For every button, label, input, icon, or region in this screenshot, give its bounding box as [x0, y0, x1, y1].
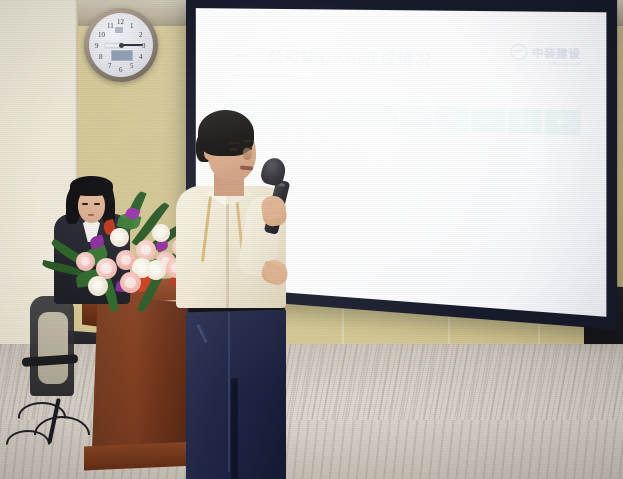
slide-title: 一、公司核心KPI完成情况 [235, 45, 432, 71]
kpi-col-label: 备注 [557, 119, 569, 126]
kpi-cell: -- [399, 147, 432, 160]
pink-rose [120, 272, 141, 293]
kpi-cell-value: -- [561, 172, 565, 178]
kpi-cell: -- [364, 145, 397, 158]
kpi-cell-value: -- [523, 170, 526, 176]
kpi-col-label: 指标名称 [267, 109, 288, 116]
kpi-cell-value: -- [450, 167, 453, 172]
kpi-cell-value: -- [486, 139, 489, 144]
kpi-cell: 净利润 [262, 141, 293, 154]
kpi-col-header: 排名 [435, 106, 469, 132]
kpi-col-label: 单位 [306, 110, 317, 117]
kpi-cell: -- [508, 151, 543, 164]
kpi-cell-value: -- [379, 134, 382, 139]
conference-room-photo: 12 1 2 3 4 5 6 7 8 9 10 11 一、公司核心KPI完成情况 [0, 0, 623, 479]
podium-base [84, 442, 196, 471]
kpi-cell-value: -- [523, 140, 526, 146]
kpi-cell-value: -- [450, 137, 453, 142]
kpi-cell-value: -- [561, 157, 565, 163]
kpi-cell-value: 万元 [307, 131, 317, 138]
clock-center-pin [119, 43, 124, 48]
kpi-cell: -- [471, 150, 505, 163]
pink-rose [136, 240, 156, 260]
kpi-col-header: 得分 [508, 108, 543, 134]
kpi-cell: % [296, 157, 328, 170]
logo-circle-icon [510, 44, 527, 61]
kpi-cell-value: 营业收入 [269, 130, 288, 137]
kpi-cell: -- [435, 148, 469, 161]
kpi-col-header: 备注 [545, 109, 581, 135]
kpi-cell-value: 万元 [307, 146, 317, 153]
kpi-cell: -- [364, 160, 397, 173]
kpi-cell-value: -- [344, 133, 347, 138]
kpi-cell: 万元 [296, 128, 328, 141]
kpi-cell: -- [435, 133, 469, 146]
clock-date-window [111, 50, 133, 61]
kpi-col-label: 得分 [519, 118, 531, 125]
kpi-col-header: 权重 [471, 107, 505, 133]
kpi-cell-value: % [310, 161, 314, 166]
chair-backrest-gap [38, 312, 68, 384]
kpi-cell-value: -- [414, 165, 417, 170]
kpi-cell-value: -- [414, 151, 417, 156]
kpi-cell-value: -- [344, 148, 347, 153]
kpi-cell: -- [545, 153, 581, 166]
kpi-col-label: 年度目标 [335, 111, 357, 118]
clock-brand-mark [115, 27, 123, 33]
kpi-cell-value: 净利润 [271, 144, 285, 151]
speaker-eye-left [230, 148, 238, 151]
kpi-col-header: 指标名称 [262, 100, 293, 125]
cream-rose [146, 260, 166, 280]
logo-subtext: GRANDLAND [548, 61, 580, 67]
kpi-cell: -- [545, 168, 581, 182]
shirt-placket [226, 204, 229, 308]
kpi-cell: -- [471, 135, 505, 148]
clock-minute-hand [121, 44, 143, 46]
wall-clock: 12 1 2 3 4 5 6 7 8 9 10 11 [84, 8, 158, 82]
kpi-cell-value: -- [414, 136, 417, 141]
kpi-cell-value: -- [486, 169, 489, 175]
kpi-cell: -- [399, 132, 432, 145]
kpi-col-header: 完成值 [364, 104, 397, 129]
trouser-leg-split [231, 378, 238, 479]
cream-rose [152, 224, 170, 242]
kpi-col-header: 完成率 [399, 105, 432, 130]
kpi-cell-value: -- [523, 155, 526, 161]
company-logo: 中装建设 [510, 44, 580, 62]
pink-rose [76, 252, 95, 271]
kpi-cell: -- [508, 136, 543, 149]
kpi-cell: -- [364, 131, 397, 144]
kpi-cell: -- [330, 129, 362, 142]
kpi-cell: -- [508, 166, 543, 179]
podium-shading [92, 296, 188, 456]
attendee-fringe [70, 176, 113, 196]
kpi-cell: 万元 [296, 142, 328, 155]
cream-rose [110, 228, 129, 247]
kpi-cell-value: -- [486, 154, 489, 160]
kpi-cell: -- [435, 163, 469, 176]
kpi-cell-value: -- [344, 162, 347, 167]
kpi-col-header: 单位 [296, 101, 328, 126]
kpi-col-label: 完成率 [407, 114, 424, 121]
slide-divider [229, 75, 551, 84]
kpi-cell: -- [471, 165, 505, 178]
kpi-col-label: 完成值 [372, 113, 389, 120]
kpi-col-label: 权重 [482, 116, 494, 123]
kpi-col-label: 排名 [446, 115, 457, 122]
cream-rose [88, 276, 108, 296]
kpi-cell-value: -- [450, 152, 453, 157]
kpi-cell: -- [330, 144, 362, 157]
kpi-cell: 营业收入 [262, 127, 293, 139]
kpi-cell: -- [330, 158, 362, 171]
kpi-cell-value: -- [561, 141, 565, 147]
kpi-col-header: 年度目标 [330, 103, 362, 128]
kpi-cell-value: -- [379, 164, 382, 169]
kpi-cell-value: -- [379, 149, 382, 154]
logo-text: 中装建设 [532, 44, 581, 61]
trouser-crease [228, 312, 230, 472]
kpi-cell: -- [545, 138, 581, 151]
kpi-cell: -- [399, 161, 432, 174]
